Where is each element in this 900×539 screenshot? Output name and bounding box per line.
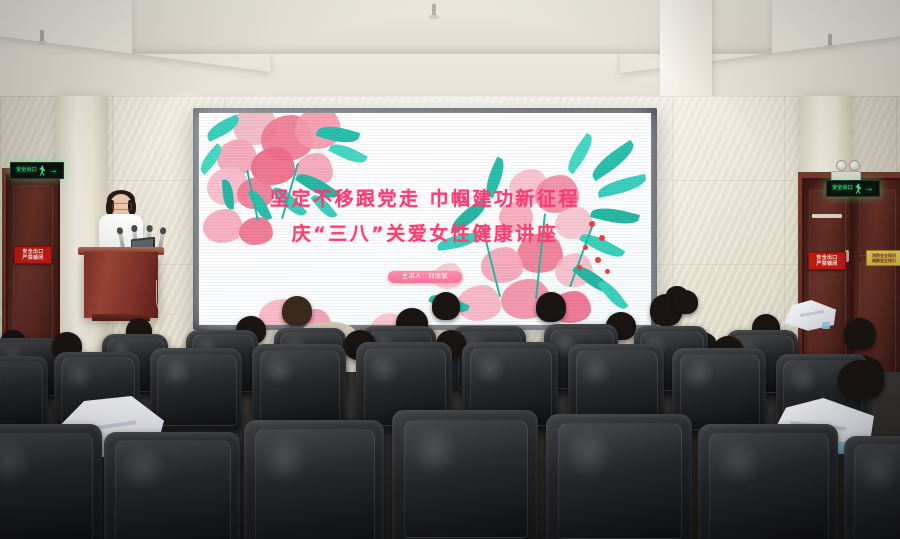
exit-sign-text: 安全出口: [16, 168, 37, 173]
door-warning-sign-right: 安全出口 严禁锁闭: [808, 252, 846, 270]
exit-arrow-icon: →: [864, 184, 874, 194]
audience-head: [432, 292, 460, 320]
slide-title-line-1: 坚定不移跟党走 巾帼建功新征程: [199, 187, 651, 212]
presenter-glasses: [112, 203, 132, 210]
running-man-icon: [39, 166, 46, 176]
seat[interactable]: [698, 424, 838, 539]
audience-head: [844, 318, 876, 350]
door-lintel-strip: [812, 214, 842, 218]
podium: [84, 252, 158, 318]
slide-title-line-2: 庆“三八”关爱女性健康讲座: [199, 222, 651, 247]
seat[interactable]: [0, 424, 102, 539]
audience-head: [536, 292, 566, 322]
running-man-icon: [855, 184, 862, 194]
audience-head: [282, 296, 312, 326]
auditorium-scene: 安全出口 严禁锁闭 安全出口 → 安全出口 严禁锁闭 消防安全知识 疏散逃生指引…: [0, 0, 900, 539]
seat[interactable]: [244, 420, 384, 539]
exit-sign-text: 安全出口: [832, 186, 853, 191]
exit-sign-right: 安全出口 →: [826, 180, 880, 197]
sprinkler-head: [40, 30, 44, 43]
sprinkler-head: [432, 4, 436, 17]
led-screen-bezel: 坚定不移跟党走 巾帼建功新征程 庆“三八”关爱女性健康讲座 主讲人：刘丽敏: [193, 108, 657, 330]
notice-board-right: 消防安全知识 疏散逃生指引: [866, 250, 900, 266]
sign-line-2: 严禁锁闭: [16, 255, 50, 261]
exit-arrow-icon: →: [48, 166, 58, 176]
seat[interactable]: [252, 344, 346, 430]
seat[interactable]: [0, 356, 48, 434]
door-warning-sign-left: 安全出口 严禁锁闭: [14, 246, 52, 264]
seat[interactable]: [392, 410, 538, 539]
badge-tag: [822, 322, 830, 329]
speaker-badge: 主讲人：刘丽敏: [388, 271, 462, 283]
audience-head: [838, 360, 884, 400]
seat[interactable]: [104, 432, 240, 539]
sprinkler-head: [828, 34, 832, 47]
slide-title-block: 坚定不移跟党走 巾帼建功新征程 庆“三八”关爱女性健康讲座: [199, 187, 651, 247]
sign-line-2: 严禁锁闭: [810, 261, 844, 267]
emergency-light-right: [836, 160, 860, 171]
notice-line-2: 疏散逃生指引: [868, 258, 900, 263]
audience-head: [672, 290, 698, 314]
seat[interactable]: [546, 414, 692, 539]
exit-sign-left: 安全出口 →: [10, 162, 64, 179]
podium-cable: [156, 280, 181, 315]
led-screen[interactable]: 坚定不移跟党走 巾帼建功新征程 庆“三八”关爱女性健康讲座 主讲人：刘丽敏: [199, 113, 651, 325]
seat[interactable]: [844, 436, 900, 539]
seat[interactable]: [150, 348, 242, 430]
